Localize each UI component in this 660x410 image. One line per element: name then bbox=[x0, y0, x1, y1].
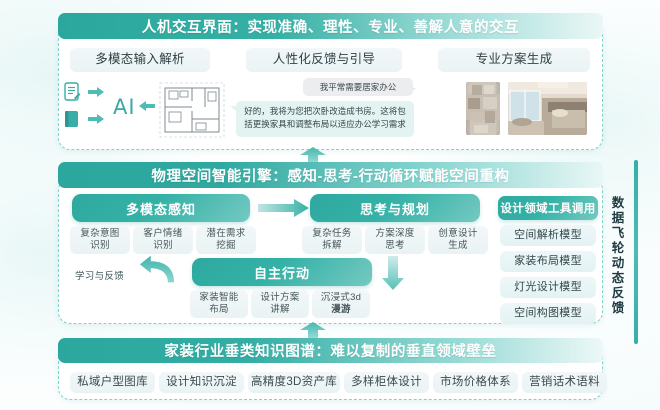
ai-label: AI bbox=[113, 95, 136, 119]
bedroom-render-thumbnail bbox=[508, 82, 587, 135]
chat-bubble-user: 我平常需要居家办公 bbox=[303, 78, 413, 96]
thinking-item-1[interactable]: 复杂任务 拆解 bbox=[302, 226, 362, 254]
thinking-item-2-line1: 方案深度 bbox=[375, 228, 414, 239]
thinking-item-3[interactable]: 创意设计 生成 bbox=[428, 226, 488, 254]
knowledge-item-2[interactable]: 设计知识沉淀 bbox=[159, 372, 244, 393]
perception-item-1-line2: 识别 bbox=[90, 240, 110, 251]
tools-column-header[interactable]: 设计领域工具调用 bbox=[498, 196, 598, 220]
document-form-icon bbox=[64, 82, 81, 103]
thinking-item-3-line1: 创意设计 bbox=[438, 228, 477, 239]
infographic-canvas: 人机交互界面：实现准确、理性、专业、善解人意的交互 多模态输入解析 人性化反馈与… bbox=[0, 0, 660, 410]
tools-item-3[interactable]: 灯光设计模型 bbox=[500, 277, 596, 298]
action-item-3-line1: 沉浸式3d bbox=[321, 292, 362, 303]
perception-item-1-line1: 复杂意图 bbox=[80, 228, 119, 239]
group-header-thinking[interactable]: 思考与规划 bbox=[310, 194, 480, 222]
action-item-1-line2: 布局 bbox=[209, 304, 229, 315]
knowledge-item-3[interactable]: 高精度3D资产库 bbox=[248, 372, 340, 393]
perception-item-1[interactable]: 复杂意图 识别 bbox=[70, 226, 130, 254]
image-book-icon bbox=[64, 110, 81, 129]
arrow-icon-book-to-ai bbox=[88, 113, 105, 125]
floorplan-render-thumbnail bbox=[466, 82, 500, 135]
group-header-perception[interactable]: 多模态感知 bbox=[72, 194, 250, 222]
top-column-2[interactable]: 人性化反馈与引导 bbox=[246, 48, 402, 72]
tools-item-2[interactable]: 家装布局模型 bbox=[500, 251, 596, 272]
chat-bubble-ai-tail bbox=[230, 106, 236, 111]
knowledge-item-6[interactable]: 营销话术语料 bbox=[522, 372, 607, 393]
action-item-2[interactable]: 设计方案 讲解 bbox=[251, 290, 309, 318]
thinking-item-1-line1: 复杂任务 bbox=[312, 228, 351, 239]
arrow-icon-doc-to-ai bbox=[88, 86, 105, 98]
thinking-item-2[interactable]: 方案深度 思考 bbox=[365, 226, 425, 254]
arrow-icon-perception-to-thinking bbox=[258, 198, 310, 223]
top-section-title: 人机交互界面：实现准确、理性、专业、善解人意的交互 bbox=[58, 13, 603, 39]
bottom-section-title: 家装行业垂类知识图谱：难以复制的垂直领域壁垒 bbox=[58, 338, 603, 363]
perception-item-2-line2: 识别 bbox=[153, 240, 173, 251]
perception-item-3-line2: 挖掘 bbox=[216, 240, 236, 251]
action-item-1[interactable]: 家装智能 布局 bbox=[190, 290, 248, 318]
action-item-1-line1: 家装智能 bbox=[199, 292, 238, 303]
side-label-data-flywheel: 数据飞轮动态反馈 bbox=[610, 196, 623, 326]
thinking-item-2-line2: 思考 bbox=[385, 240, 405, 251]
action-item-2-line2: 讲解 bbox=[270, 304, 290, 315]
side-accent-bar bbox=[634, 160, 638, 344]
tools-item-1[interactable]: 空间解析模型 bbox=[500, 225, 596, 246]
chat-bubble-user-tail bbox=[411, 88, 417, 92]
top-column-1[interactable]: 多模态输入解析 bbox=[70, 48, 210, 72]
arrow-icon-learning-feedback bbox=[140, 252, 196, 303]
floorplan-line-drawing bbox=[158, 81, 226, 139]
mid-section-title: 物理空间智能引擎：感知-思考-行动循环赋能空间重构 bbox=[58, 162, 603, 188]
perception-item-3[interactable]: 潜在需求 挖掘 bbox=[196, 226, 256, 254]
perception-item-3-line1: 潜在需求 bbox=[206, 228, 245, 239]
knowledge-item-5[interactable]: 市场价格体系 bbox=[433, 372, 518, 393]
perception-item-2-line1: 客户情绪 bbox=[143, 228, 182, 239]
arrow-icon-plan-to-ai bbox=[139, 100, 155, 112]
perception-item-2[interactable]: 客户情绪 识别 bbox=[133, 226, 193, 254]
tools-item-4[interactable]: 空间构图模型 bbox=[500, 303, 596, 324]
group-header-action[interactable]: 自主行动 bbox=[192, 258, 372, 286]
thinking-item-3-line2: 生成 bbox=[448, 240, 468, 251]
action-item-2-line1: 设计方案 bbox=[260, 292, 299, 303]
action-item-3-line2: 漫游 bbox=[331, 304, 351, 315]
learning-feedback-label: 学习与反馈 bbox=[75, 268, 124, 282]
thinking-item-1-line2: 拆解 bbox=[322, 240, 342, 251]
action-item-3[interactable]: 沉浸式3d 漫游 bbox=[312, 290, 370, 318]
chat-bubble-ai: 好的，我将为您把次卧改造成书房。这将包括更换家具和调整布局以适应办公学习需求 bbox=[236, 101, 414, 137]
knowledge-item-1[interactable]: 私域户型图库 bbox=[70, 372, 155, 393]
top-column-3[interactable]: 专业方案生成 bbox=[438, 48, 590, 72]
knowledge-item-4[interactable]: 多样柜体设计 bbox=[344, 372, 429, 393]
